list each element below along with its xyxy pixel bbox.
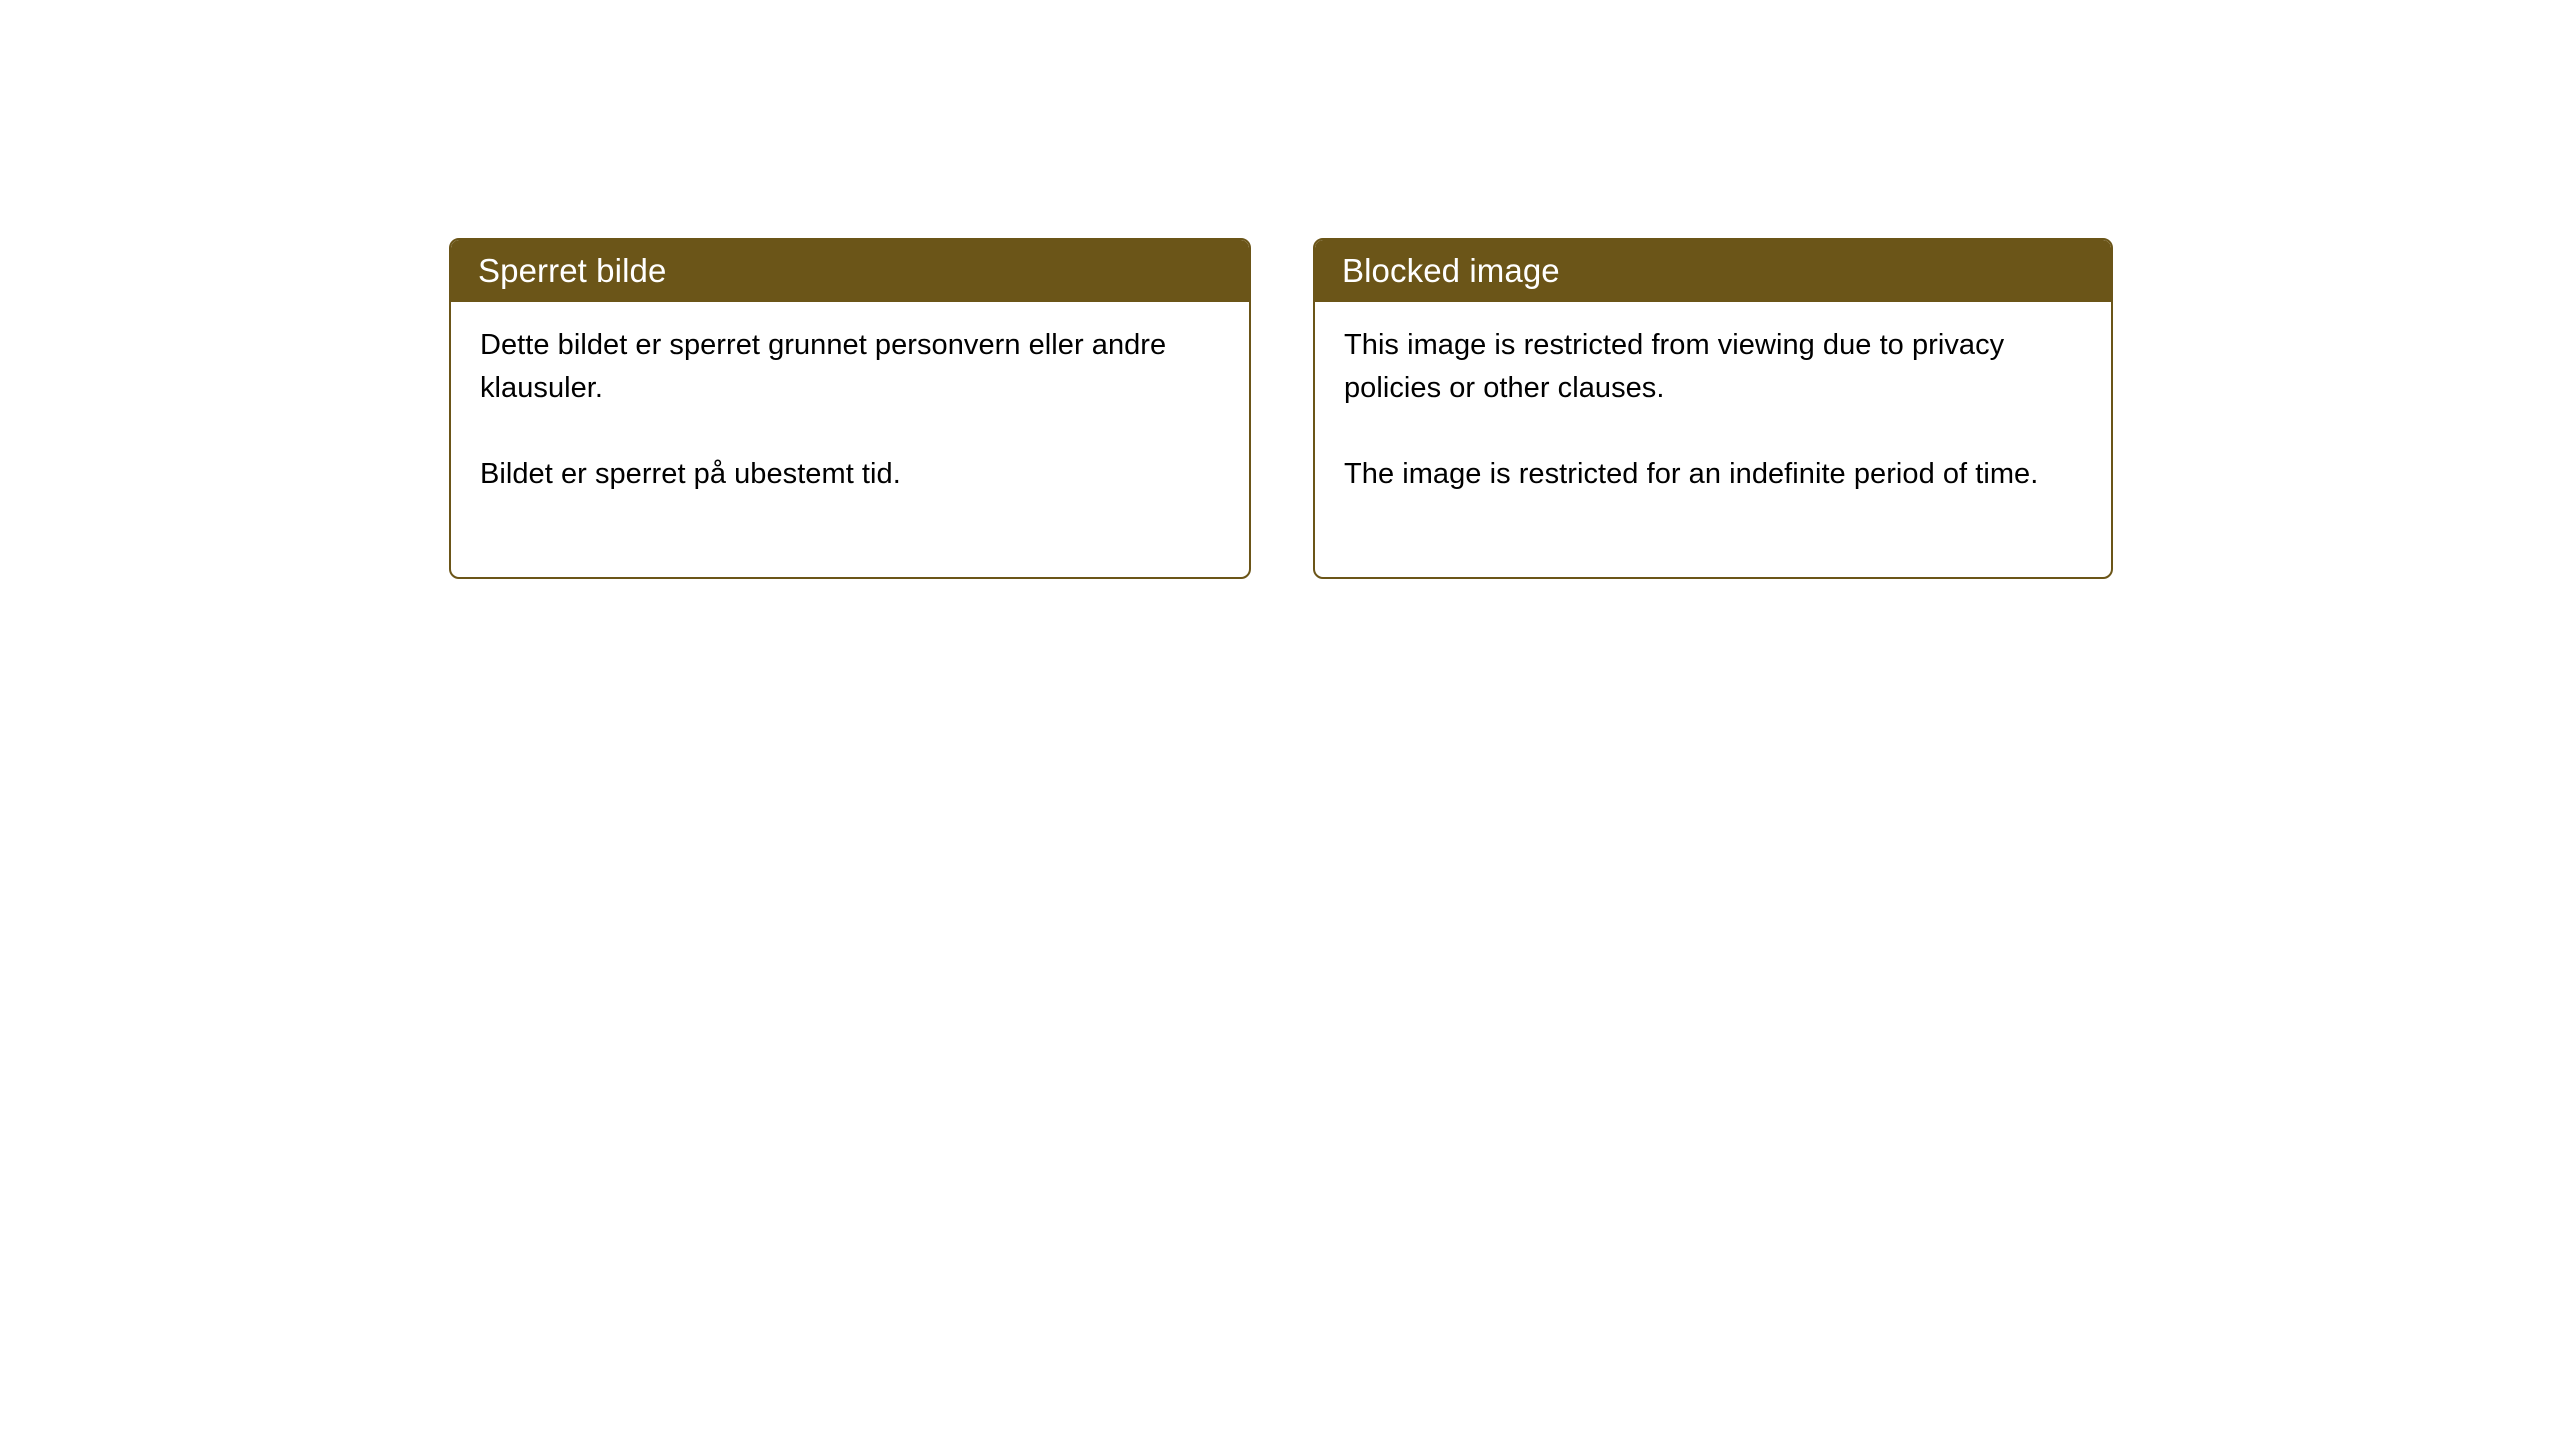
blocked-image-card-norwegian: Sperret bilde Dette bildet er sperret gr… [449,238,1251,579]
card-header-norwegian: Sperret bilde [451,240,1249,302]
card-body-english: This image is restricted from viewing du… [1315,302,2111,496]
card-title-norwegian: Sperret bilde [478,254,666,287]
blocked-image-notice-area: Sperret bilde Dette bildet er sperret gr… [0,0,2560,1440]
card-paragraph-reason-english: This image is restricted from viewing du… [1344,324,2085,410]
card-paragraph-reason-norwegian: Dette bildet er sperret grunnet personve… [480,324,1223,410]
card-paragraph-duration-english: The image is restricted for an indefinit… [1344,453,2085,496]
card-header-english: Blocked image [1315,240,2111,302]
card-body-norwegian: Dette bildet er sperret grunnet personve… [451,302,1249,496]
card-paragraph-duration-norwegian: Bildet er sperret på ubestemt tid. [480,453,1223,496]
card-title-english: Blocked image [1342,254,1560,287]
blocked-image-card-english: Blocked image This image is restricted f… [1313,238,2113,579]
